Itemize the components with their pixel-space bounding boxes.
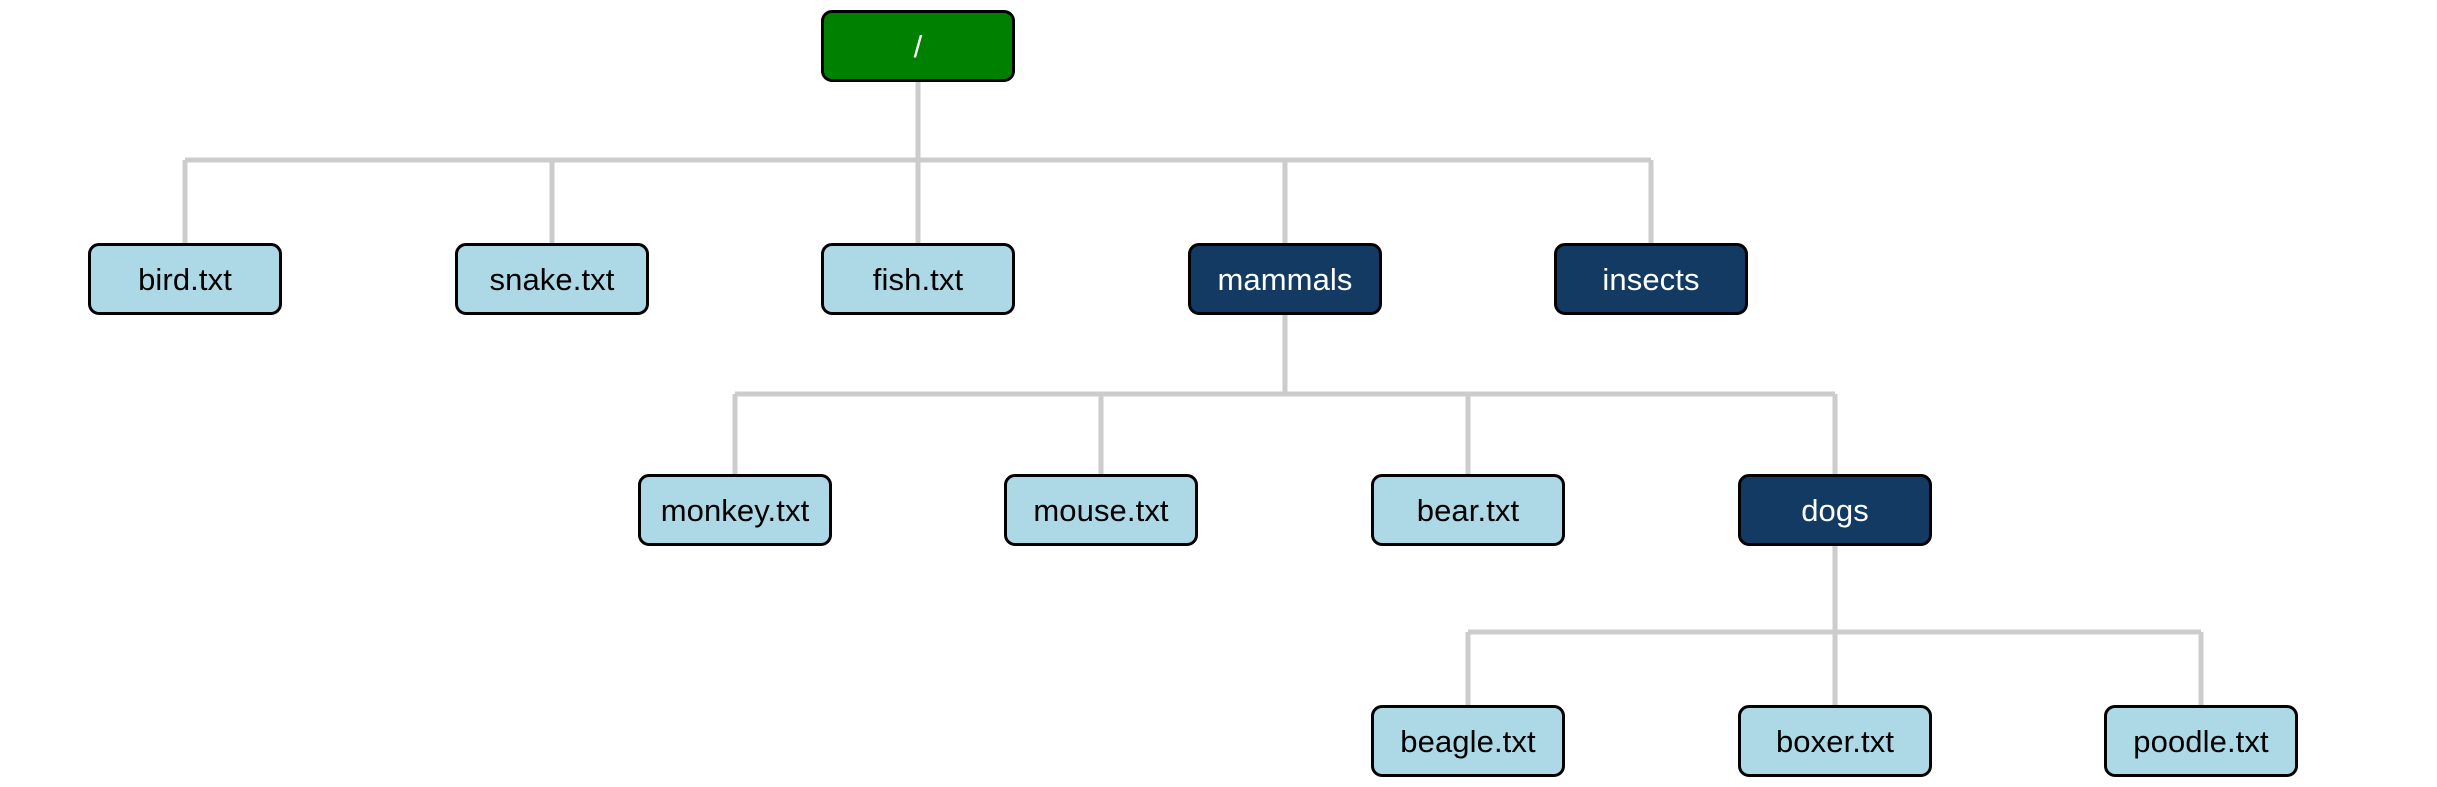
tree-node-label-root: /: [914, 31, 923, 62]
tree-node-label-monkey: monkey.txt: [661, 495, 810, 526]
tree-node-label-mouse: mouse.txt: [1033, 495, 1168, 526]
edge-group-root: [185, 82, 1651, 243]
tree-node-label-mammals: mammals: [1217, 264, 1352, 295]
tree-node-root[interactable]: /: [821, 10, 1015, 82]
tree-node-beagle[interactable]: beagle.txt: [1371, 705, 1565, 777]
tree-node-label-insects: insects: [1602, 264, 1699, 295]
tree-node-mouse[interactable]: mouse.txt: [1004, 474, 1198, 546]
tree-node-label-dogs: dogs: [1801, 495, 1869, 526]
tree-node-fish[interactable]: fish.txt: [821, 243, 1015, 315]
tree-node-poodle[interactable]: poodle.txt: [2104, 705, 2298, 777]
filesystem-tree-diagram: /bird.txtsnake.txtfish.txtmammalsinsects…: [0, 0, 2437, 787]
tree-node-label-beagle: beagle.txt: [1400, 726, 1535, 757]
edge-group-mammals: [735, 315, 1835, 474]
tree-node-snake[interactable]: snake.txt: [455, 243, 649, 315]
tree-node-monkey[interactable]: monkey.txt: [638, 474, 832, 546]
tree-node-label-bird: bird.txt: [138, 264, 232, 295]
tree-node-label-bear: bear.txt: [1417, 495, 1519, 526]
tree-edge-layer: [0, 0, 2437, 787]
tree-node-bear[interactable]: bear.txt: [1371, 474, 1565, 546]
tree-node-label-boxer: boxer.txt: [1776, 726, 1894, 757]
tree-node-boxer[interactable]: boxer.txt: [1738, 705, 1932, 777]
edge-group-dogs: [1468, 546, 2201, 705]
tree-node-dogs[interactable]: dogs: [1738, 474, 1932, 546]
tree-node-label-snake: snake.txt: [490, 264, 615, 295]
tree-node-mammals[interactable]: mammals: [1188, 243, 1382, 315]
tree-node-bird[interactable]: bird.txt: [88, 243, 282, 315]
tree-node-label-poodle: poodle.txt: [2133, 726, 2268, 757]
tree-node-insects[interactable]: insects: [1554, 243, 1748, 315]
tree-node-label-fish: fish.txt: [873, 264, 963, 295]
